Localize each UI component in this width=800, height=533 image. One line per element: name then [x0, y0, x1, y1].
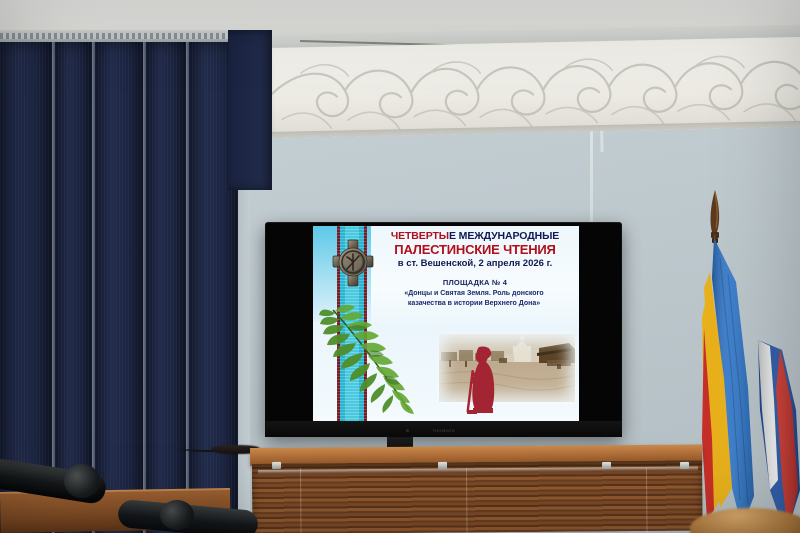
presentation-slide: ЧЕТВЕРТЫЕ МЕЖДУНАРОДНЫЕ ПАЛЕСТИНСКИЕ ЧТЕ…	[313, 226, 579, 422]
foreground-object-knob	[160, 500, 194, 530]
slide-section-topic: «Донцы и Святая Земля. Роль донского каз…	[371, 289, 577, 308]
slide-subtitle: в ст. Вешенской, 2 апреля 2026 г.	[375, 258, 575, 269]
blind-slat[interactable]	[95, 42, 143, 533]
flag-group	[690, 190, 800, 533]
blind-bracket	[272, 462, 281, 469]
blind-bracket	[680, 462, 689, 469]
slide-title-line-1: ЧЕТВЕРТЫЕ МЕЖДУНАРОДНЫЕ	[375, 231, 575, 242]
jerusalem-cross-medallion	[332, 239, 374, 287]
blind-track-carriers	[0, 33, 238, 39]
tv-power-led	[406, 429, 409, 432]
vertical-blinds-left[interactable]	[0, 30, 238, 533]
slide-title-line-2: ПАЛЕСТИНСКИЕ ЧТЕНИЯ	[375, 243, 575, 257]
blind-bracket	[438, 462, 447, 469]
slide-topic-line-2: казачества в истории Верхнего Дона»	[371, 299, 577, 309]
blind-slat[interactable]	[55, 42, 92, 533]
slide-topic-line-1: «Донцы и Святая Земля. Роль донского	[371, 289, 577, 299]
tv-screen: ЧЕТВЕРТЫЕ МЕЖДУНАРОДНЫЕ ПАЛЕСТИНСКИЕ ЧТЕ…	[266, 223, 621, 423]
russian-federation-flag	[752, 340, 800, 533]
palm-branch	[317, 300, 429, 418]
vertical-blind-panel-right[interactable]	[228, 30, 272, 190]
television[interactable]: ЧЕТВЕРТЫЕ МЕЖДУНАРОДНЫЕ ПАЛЕСТИНСКИЕ ЧТЕ…	[265, 222, 622, 437]
foreground-object-knob	[64, 464, 100, 498]
blind-slat[interactable]	[146, 42, 186, 533]
pilgrim-silhouette	[459, 344, 503, 416]
slide-section-label: ПЛОЩАДКА № 4	[375, 278, 575, 287]
conference-room-scene: ЧЕТВЕРТЫЕ МЕЖДУНАРОДНЫЕ ПАЛЕСТИНСКИЕ ЧТЕ…	[0, 0, 800, 533]
tv-bezel: THOMSON	[265, 421, 622, 437]
blind-bracket	[602, 462, 611, 469]
tv-brand-logo: THOMSON	[432, 428, 455, 433]
